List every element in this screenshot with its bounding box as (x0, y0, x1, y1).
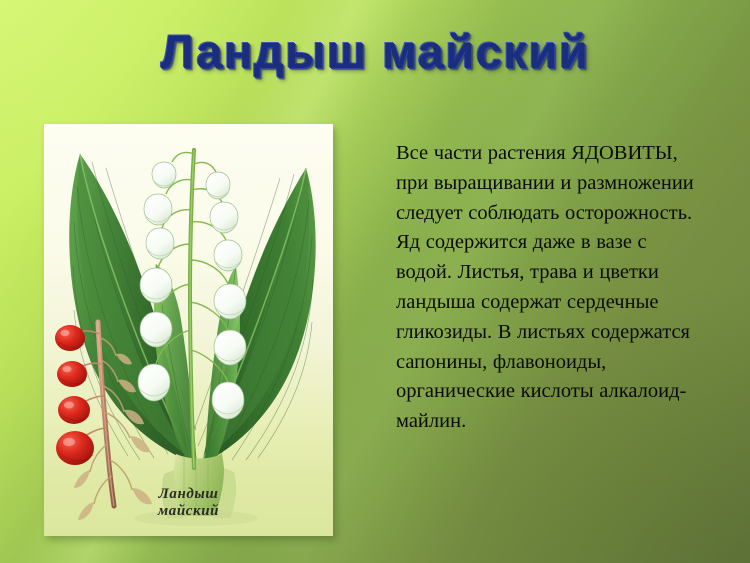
caption-line-1: Ландыш (44, 486, 333, 503)
plant-illustration-panel: Ландыш майский (44, 124, 333, 536)
description-paragraph: Все части растения ЯДОВИТЫ, при выращива… (396, 139, 696, 437)
slide-title: Ландыш майский (0, 26, 750, 78)
lily-of-the-valley-drawing (44, 124, 333, 536)
illustration-caption: Ландыш майский (44, 486, 333, 521)
caption-line-2: майский (44, 503, 333, 520)
flower-stem (190, 150, 194, 468)
slide-root: Ландыш майский (0, 0, 750, 563)
